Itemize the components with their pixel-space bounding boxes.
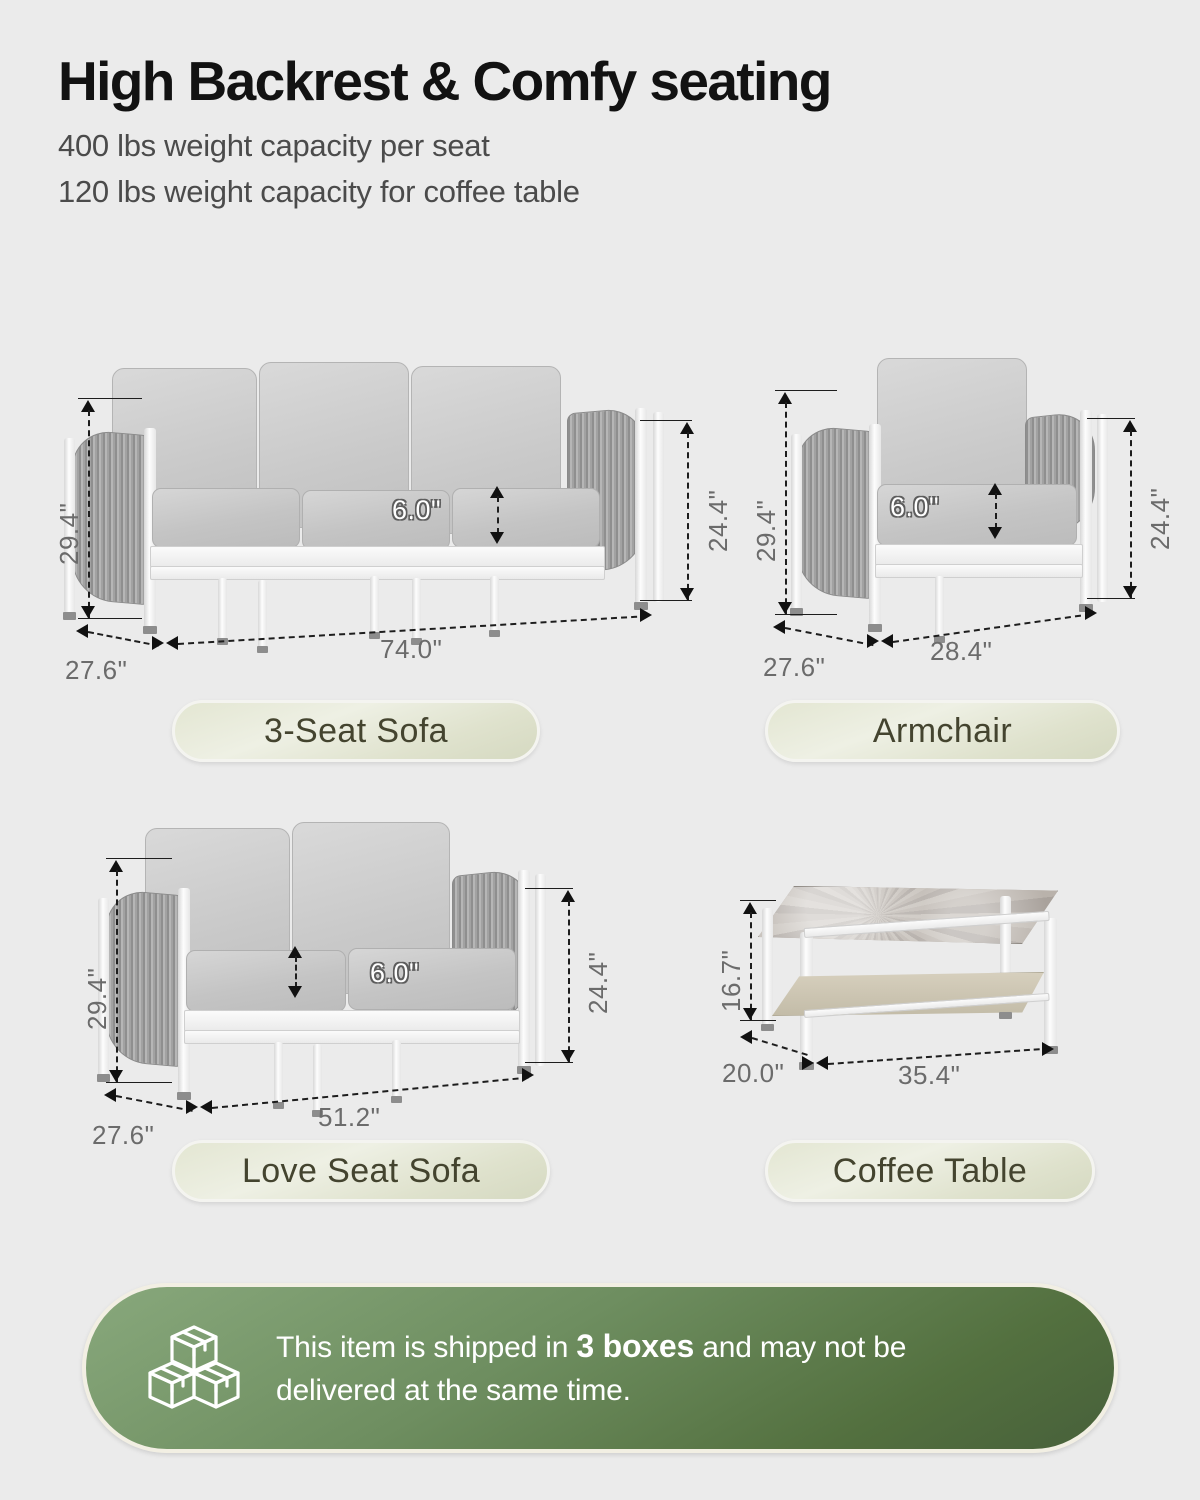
shipping-box-count: 3 boxes bbox=[576, 1328, 694, 1364]
table-arrow-depth-left bbox=[740, 1030, 752, 1044]
table-tick-height-top bbox=[740, 900, 776, 901]
shipping-text-after: and may not be bbox=[694, 1331, 906, 1364]
armchair-dimline-seat bbox=[995, 493, 997, 529]
sofa-dimline-arm-height bbox=[687, 432, 689, 600]
armchair-dim-depth: 27.6" bbox=[763, 652, 825, 683]
capacity-table-text: 120 lbs weight capacity for coffee table bbox=[58, 170, 1158, 214]
armchair-arrow-width-right bbox=[1085, 606, 1097, 620]
shipping-text-before: This item is shipped in bbox=[276, 1331, 576, 1364]
boxes-icon bbox=[148, 1323, 240, 1414]
sofa-seat-cushion-left bbox=[152, 488, 300, 548]
table-dim-width: 35.4" bbox=[898, 1060, 960, 1091]
sofa-foot-2 bbox=[257, 646, 268, 653]
shipping-text-line2: delivered at the same time. bbox=[276, 1374, 631, 1407]
armchair-foot-arm-l bbox=[868, 624, 882, 632]
loveseat-dimline-seat bbox=[295, 956, 297, 988]
sofa-leg-1 bbox=[218, 578, 227, 640]
header: High Backrest & Comfy seating 400 lbs we… bbox=[58, 52, 1158, 214]
loveseat-dim-depth: 27.6" bbox=[92, 1120, 154, 1151]
loveseat-tick-arm-bottom bbox=[525, 1062, 573, 1063]
sofa-foot-5 bbox=[489, 630, 500, 637]
sofa-post-arm-right bbox=[635, 408, 647, 604]
product-label-sofa-text: 3-Seat Sofa bbox=[264, 712, 448, 751]
loveseat-tick-back-top bbox=[106, 858, 172, 859]
product-label-loveseat[interactable]: Love Seat Sofa bbox=[172, 1140, 550, 1202]
armchair-seat-rail bbox=[875, 544, 1083, 566]
armchair-dimline-back-height bbox=[785, 402, 787, 614]
sofa-dim-depth: 27.6" bbox=[65, 655, 127, 686]
sofa-post-front-right bbox=[653, 412, 664, 602]
sofa-tick-arm-top bbox=[640, 420, 692, 421]
loveseat-arrow-width-left bbox=[200, 1100, 212, 1114]
table-leg-front-right bbox=[1044, 918, 1057, 1048]
sofa-foot-left bbox=[63, 612, 76, 620]
page-title: High Backrest & Comfy seating bbox=[58, 52, 1158, 110]
sofa-leg-3 bbox=[370, 576, 379, 634]
sofa-arrow-back-bottom bbox=[81, 606, 95, 618]
sofa-arrow-width-right bbox=[640, 608, 652, 622]
table-dim-height: 16.7" bbox=[716, 950, 747, 1012]
loveseat-tick-arm-top bbox=[525, 888, 573, 889]
infographic-page: High Backrest & Comfy seating 400 lbs we… bbox=[0, 0, 1200, 1500]
sofa-tick-arm-bottom bbox=[640, 600, 692, 601]
product-label-loveseat-text: Love Seat Sofa bbox=[242, 1152, 480, 1191]
sofa-dim-back-height: 29.4" bbox=[54, 503, 85, 565]
sofa-tick-back-bottom bbox=[78, 618, 142, 619]
loveseat-dim-arm-height: 24.4" bbox=[583, 952, 614, 1014]
sofa-tick-back-top bbox=[78, 398, 142, 399]
armchair-arrow-depth-left bbox=[773, 620, 785, 634]
sofa-foot-arm-l bbox=[143, 626, 157, 634]
loveseat-arrow-seat-bottom bbox=[288, 986, 302, 998]
loveseat-seat-cushion-left bbox=[186, 950, 346, 1012]
loveseat-dim-back-height: 29.4" bbox=[82, 968, 113, 1030]
loveseat-arrow-depth-right bbox=[186, 1100, 198, 1114]
product-label-armchair[interactable]: Armchair bbox=[765, 700, 1120, 762]
armchair-arrow-seat-bottom bbox=[988, 527, 1002, 539]
loveseat-arrow-back-bottom bbox=[109, 1070, 123, 1082]
armchair-tick-back-bottom bbox=[775, 614, 837, 615]
product-label-armchair-text: Armchair bbox=[873, 712, 1012, 751]
sofa-arrow-arm-bottom bbox=[680, 588, 694, 600]
armchair-leg-1 bbox=[935, 576, 944, 638]
sofa-seat-rail bbox=[150, 546, 605, 568]
table-foot-back-left bbox=[761, 1024, 774, 1031]
product-label-coffee-table[interactable]: Coffee Table bbox=[765, 1140, 1095, 1202]
armchair-tick-arm-top bbox=[1087, 418, 1135, 419]
sofa-seat-cushion-right bbox=[452, 488, 600, 548]
armchair-arrow-back-bottom bbox=[778, 602, 792, 614]
product-label-sofa[interactable]: 3-Seat Sofa bbox=[172, 700, 540, 762]
armchair-arrow-arm-bottom bbox=[1123, 586, 1137, 598]
loveseat-base-rail bbox=[184, 1030, 520, 1044]
sofa-arrow-seat-bottom bbox=[490, 532, 504, 544]
table-arrow-width-right bbox=[1042, 1042, 1054, 1056]
armchair-post-front-right bbox=[1097, 414, 1108, 602]
armchair-dim-back-height: 29.4" bbox=[751, 500, 782, 562]
loveseat-dimline-back-height bbox=[116, 870, 118, 1082]
table-arrow-depth-right bbox=[802, 1056, 814, 1070]
loveseat-dim-seat-height: 6.0" bbox=[370, 958, 419, 989]
loveseat-foot-1 bbox=[273, 1102, 284, 1109]
armchair-tick-arm-bottom bbox=[1087, 598, 1135, 599]
loveseat-arrow-width-right bbox=[522, 1068, 534, 1082]
armchair-tick-back-top bbox=[775, 390, 837, 391]
shipping-banner: This item is shipped in 3 boxes and may … bbox=[82, 1283, 1118, 1453]
loveseat-arrow-depth-left bbox=[104, 1088, 116, 1102]
sofa-dimline-seat bbox=[497, 496, 499, 534]
loveseat-foot-arm-l bbox=[177, 1092, 191, 1100]
armchair-dim-width: 28.4" bbox=[930, 636, 992, 667]
product-label-coffee-table-text: Coffee Table bbox=[833, 1152, 1027, 1191]
armchair-arrow-width-left bbox=[881, 634, 893, 648]
armchair-dim-arm-height: 24.4" bbox=[1145, 488, 1176, 550]
armchair-base-rail bbox=[875, 564, 1083, 578]
sofa-dim-arm-height: 24.4" bbox=[703, 490, 734, 552]
table-foot-back-right bbox=[999, 1012, 1012, 1019]
table-dim-depth: 20.0" bbox=[722, 1058, 784, 1089]
sofa-dimline-back-height bbox=[88, 410, 90, 618]
loveseat-foot-3 bbox=[391, 1096, 402, 1103]
sofa-arrow-width-left bbox=[166, 636, 178, 650]
armchair-rope-arm-left bbox=[797, 425, 875, 600]
loveseat-leg-1 bbox=[274, 1042, 283, 1104]
armchair-arrow-depth-right bbox=[867, 634, 879, 648]
capacity-seat-text: 400 lbs weight capacity per seat bbox=[58, 124, 1158, 168]
shipping-banner-text: This item is shipped in 3 boxes and may … bbox=[276, 1324, 906, 1412]
loveseat-dim-width: 51.2" bbox=[318, 1102, 380, 1133]
armchair-dim-seat-height: 6.0" bbox=[890, 492, 939, 523]
sofa-dim-width: 74.0" bbox=[380, 634, 442, 665]
table-arrow-width-left bbox=[816, 1056, 828, 1070]
loveseat-dimline-arm-height bbox=[568, 900, 570, 1062]
loveseat-arrow-arm-bottom bbox=[561, 1050, 575, 1062]
armchair-post-front-left bbox=[791, 434, 802, 610]
table-leg-back-left bbox=[762, 908, 773, 1026]
table-dimline-height bbox=[750, 912, 752, 1020]
loveseat-post-front-right bbox=[535, 874, 546, 1066]
armchair-dimline-arm-height bbox=[1130, 430, 1132, 598]
loveseat-seat-rail bbox=[184, 1010, 520, 1032]
sofa-arrow-depth-right bbox=[152, 636, 164, 650]
table-tick-height-bottom bbox=[740, 1020, 776, 1021]
sofa-arrow-depth-left bbox=[76, 624, 88, 638]
loveseat-tick-back-bottom bbox=[106, 1082, 172, 1083]
sofa-dim-seat-height: 6.0" bbox=[392, 495, 441, 526]
